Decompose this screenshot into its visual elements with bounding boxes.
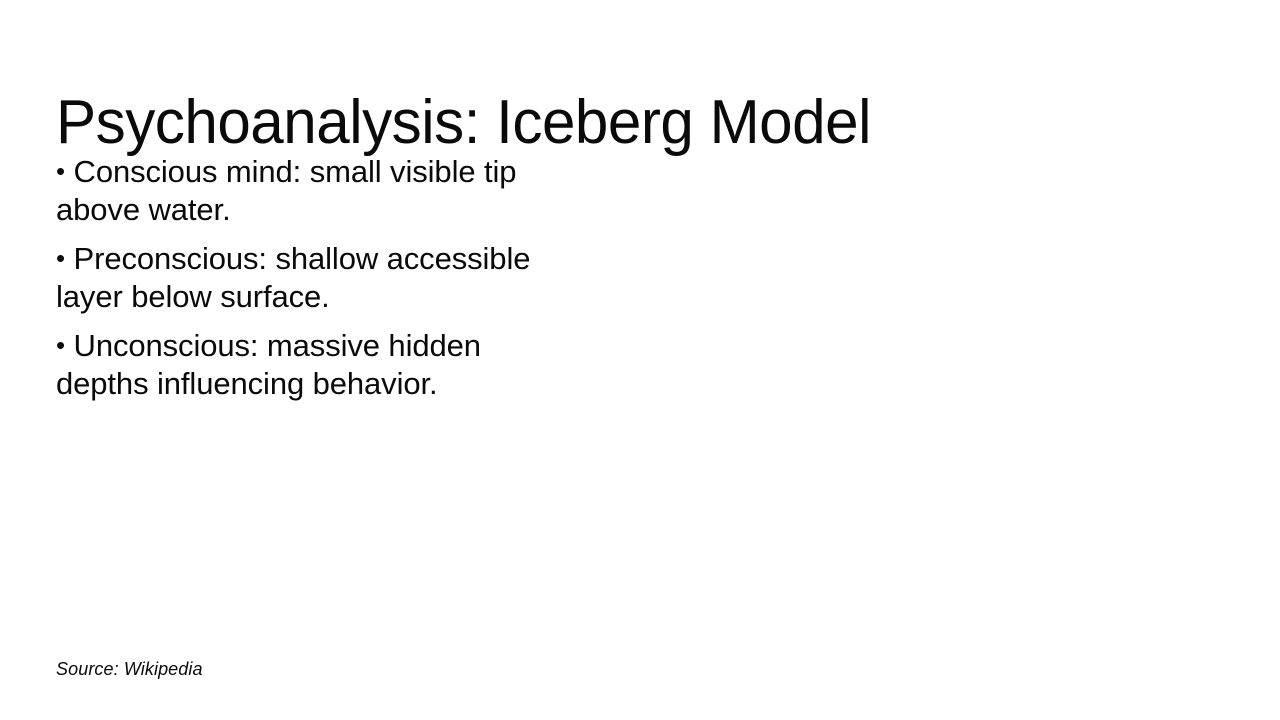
list-item: • Conscious mind: small visible tip abov… bbox=[56, 152, 576, 229]
source-attribution: Source: Wikipedia bbox=[56, 657, 203, 681]
bullet-point-icon: • bbox=[56, 156, 65, 186]
list-item: • Unconscious: massive hidden depths inf… bbox=[56, 326, 576, 403]
list-item-label: Unconscious: massive hidden depths influ… bbox=[56, 328, 481, 401]
page-title: Psychoanalysis: Iceberg Model bbox=[56, 92, 1123, 154]
bullet-list: • Conscious mind: small visible tip abov… bbox=[56, 152, 576, 403]
slide-canvas: Psychoanalysis: Iceberg Model • Consciou… bbox=[0, 0, 1280, 720]
list-item: • Preconscious: shallow accessible layer… bbox=[56, 239, 576, 316]
bullet-point-icon: • bbox=[56, 330, 65, 360]
list-item-label: Conscious mind: small visible tip above … bbox=[56, 154, 516, 227]
list-item-label: Preconscious: shallow accessible layer b… bbox=[56, 241, 530, 314]
bullet-point-icon: • bbox=[56, 243, 65, 273]
